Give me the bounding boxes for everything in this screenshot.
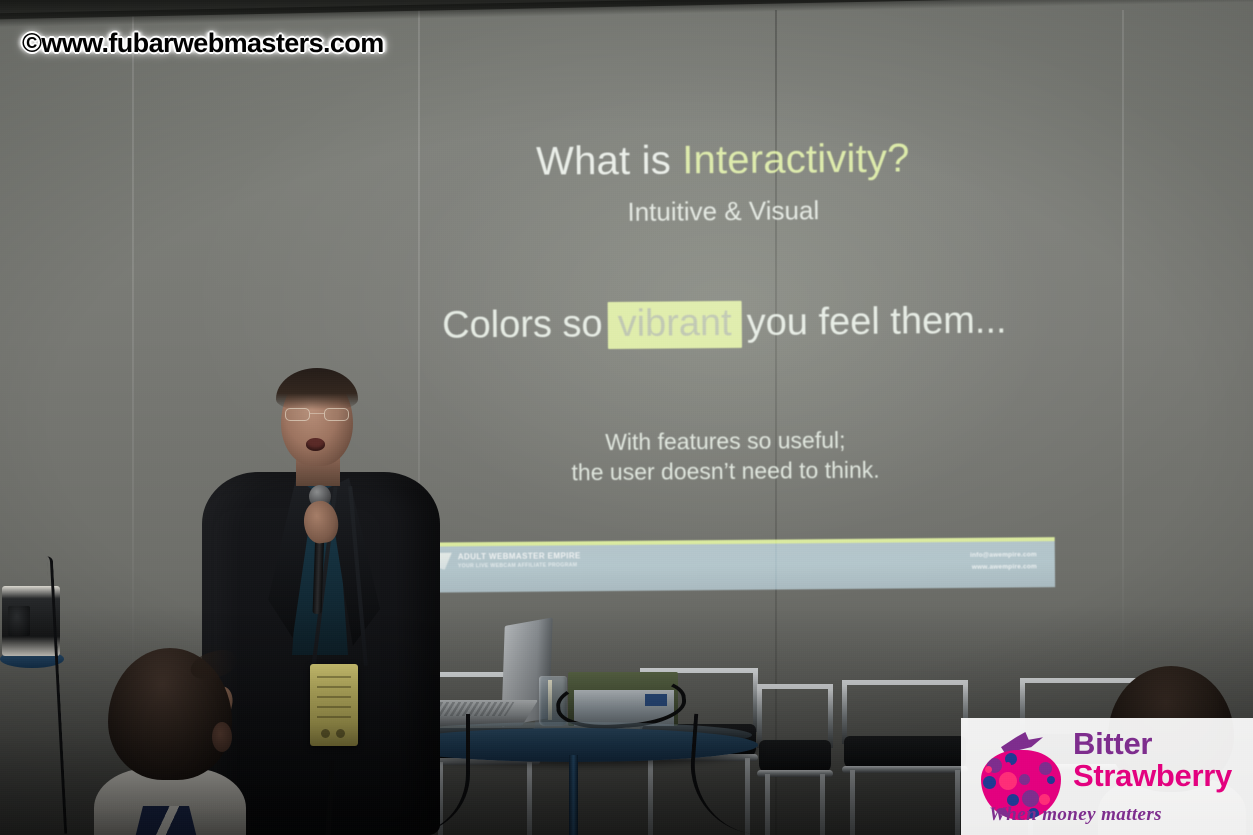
bitter-strawberry-logo: Bitter Strawberry When money matters [961,718,1253,835]
slide-main-after: you feel them... [746,300,1006,344]
slide-note-line-2: the user doesn’t need to think. [403,454,1048,490]
logo-line-1: Bitter [1073,728,1232,760]
presenter-hair [276,368,358,410]
slide-footer-brand-name: ADULT WEBMASTER EMPIRE [458,551,581,563]
slide-footer-contact: info@awempire.com www.awempire.com [970,549,1037,574]
presenter-mouth [306,438,325,451]
slide-title-plain: What is [536,138,682,183]
bitter-strawberry-wordmark: Bitter Strawberry [1073,728,1232,791]
logo-line-2: Strawberry [1073,760,1232,792]
slide-main-highlight: vibrant [607,301,741,349]
slide-footer-brand-text: ADULT WEBMASTER EMPIRE YOUR LIVE WEBCAM … [458,551,581,570]
slide-subtitle: Intuitive & Visual [401,193,1046,230]
eyeglass-lens-right [324,408,349,421]
slide-title: What is Interactivity? [400,135,1045,186]
eyeglasses-icon [285,408,349,421]
slide-main-line: Colors sovibrantyou feel them... [402,298,1047,351]
slide-footer-email: info@awempire.com [970,549,1037,562]
eyeglass-bridge [310,413,324,414]
eyeglass-lens-left [285,408,310,421]
slide-note: With features so useful; the user doesn’… [403,423,1049,489]
slide-footer-bar: ADULT WEBMASTER EMPIRE YOUR LIVE WEBCAM … [410,541,1055,593]
slide-main-before: Colors so [442,303,603,346]
slide-title-accent: Interactivity? [682,136,910,182]
projected-slide: What is Interactivity? Intuitive & Visua… [400,93,1049,599]
slide-footer-brand: ADULT WEBMASTER EMPIRE YOUR LIVE WEBCAM … [426,551,581,570]
site-watermark: ©www.fubarwebmasters.com [22,28,384,59]
slide-footer-brand-tagline: YOUR LIVE WEBCAM AFFILIATE PROGRAM [458,562,581,570]
screenshot-root: What is Interactivity? Intuitive & Visua… [0,0,1253,835]
logo-tagline: When money matters [989,804,1162,826]
slide-footer-url: www.awempire.com [970,562,1037,575]
